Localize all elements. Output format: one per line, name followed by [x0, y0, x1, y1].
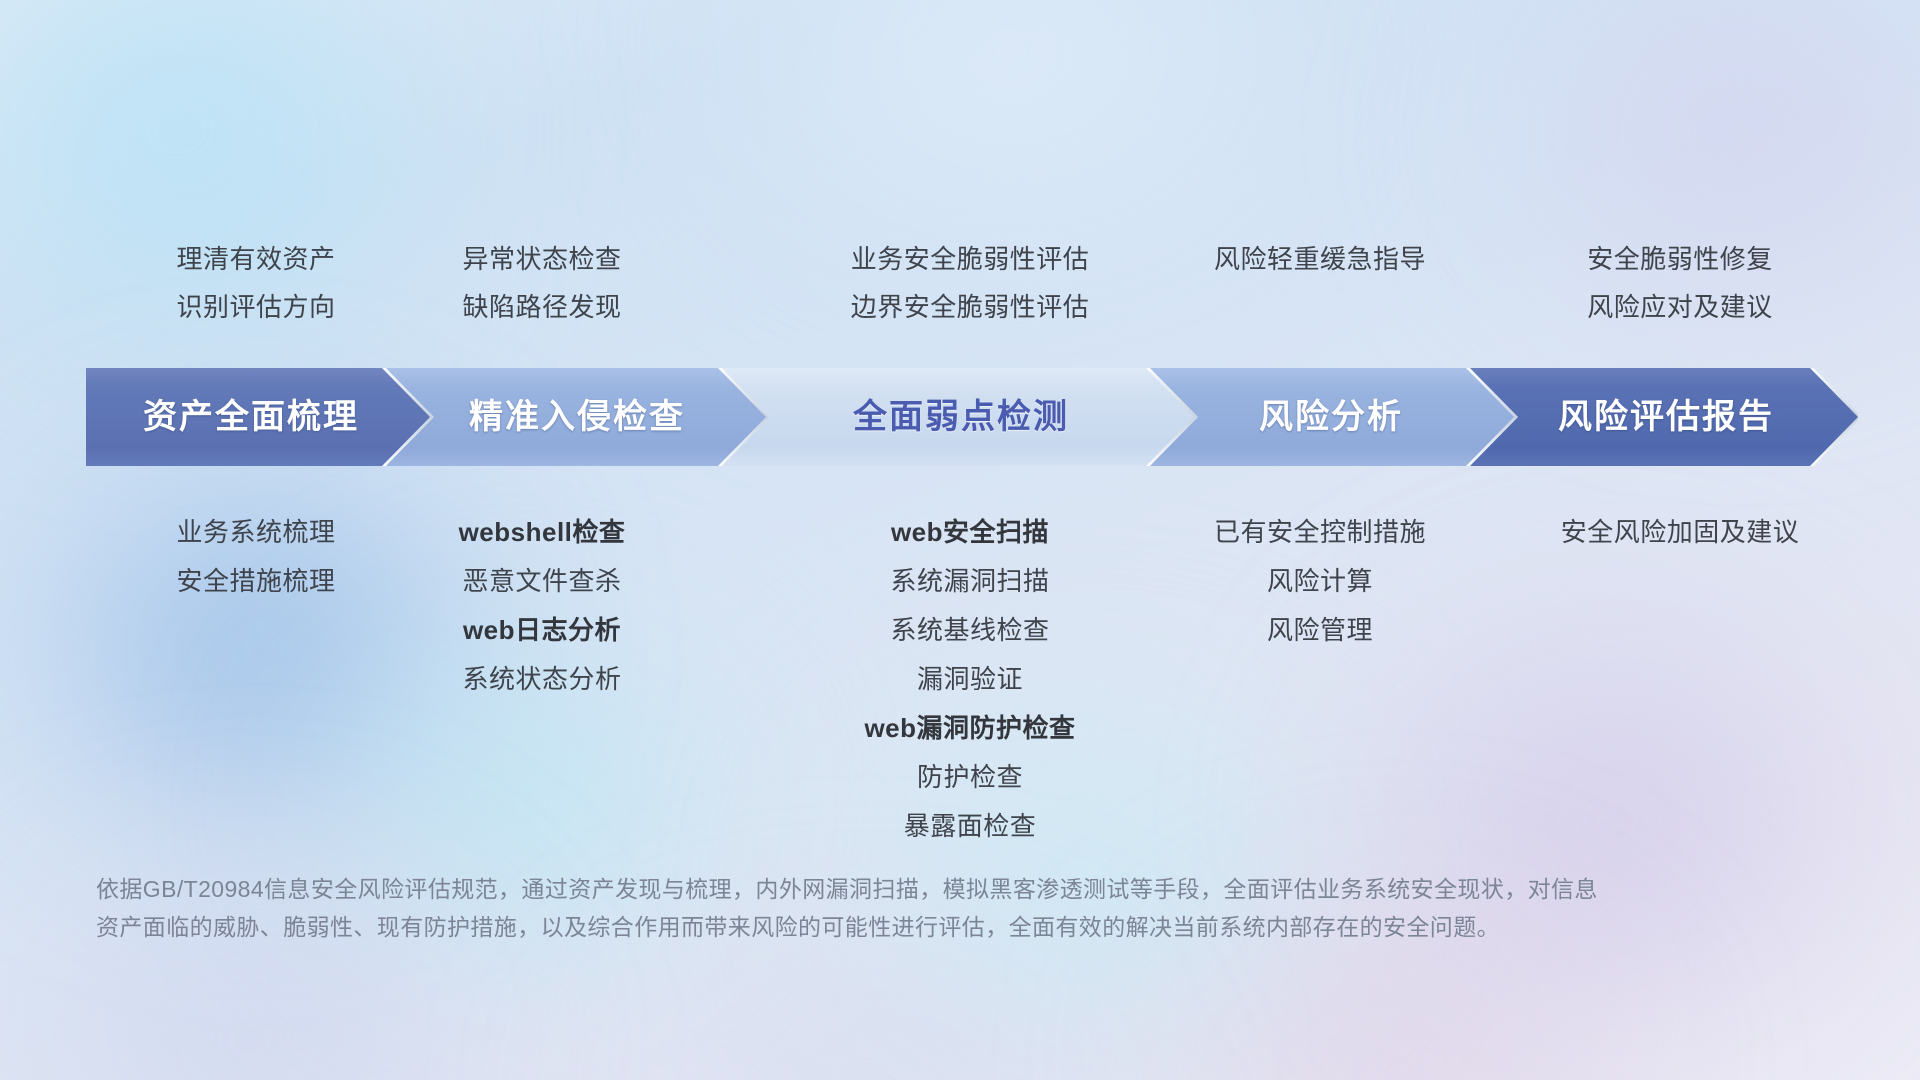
stage-top-items-intrusion-check: 异常状态检查 缺陷路径发现 — [392, 235, 692, 331]
bottom-item: web安全扫描 — [790, 508, 1150, 557]
bottom-item: 风险计算 — [1160, 557, 1480, 606]
stage-bottom-items-intrusion-check: webshell检查 恶意文件查杀 web日志分析 系统状态分析 — [392, 508, 692, 704]
bottom-item: 系统状态分析 — [392, 655, 692, 704]
bottom-item: 风险管理 — [1160, 606, 1480, 655]
bottom-item: 暴露面检查 — [790, 802, 1150, 851]
slide-canvas: 理清有效资产 识别评估方向 异常状态检查 缺陷路径发现 业务安全脆弱性评估 边界… — [0, 0, 1920, 1080]
stage-top-items-risk-report: 安全脆弱性修复 风险应对及建议 — [1510, 235, 1850, 331]
bottom-item: web漏洞防护检查 — [790, 704, 1150, 753]
chevron-label-weakness-detection[interactable]: 全面弱点检测 — [746, 368, 1176, 466]
bottom-item: 业务系统梳理 — [106, 508, 406, 557]
bottom-item: 防护检查 — [790, 753, 1150, 802]
process-chevron-band: 资产全面梳理 精准入侵检查 全面弱点检测 风险分析 风险评估报告 — [86, 368, 1858, 466]
top-item: 安全脆弱性修复 — [1510, 235, 1850, 283]
top-item: 风险轻重缓急指导 — [1160, 235, 1480, 283]
top-item: 边界安全脆弱性评估 — [790, 283, 1150, 331]
top-item: 缺陷路径发现 — [392, 283, 692, 331]
bottom-item: 安全措施梳理 — [106, 557, 406, 606]
bottom-item: 已有安全控制措施 — [1160, 508, 1480, 557]
bottom-item: 漏洞验证 — [790, 655, 1150, 704]
top-item: 风险应对及建议 — [1510, 283, 1850, 331]
top-item: 异常状态检查 — [392, 235, 692, 283]
top-item: 识别评估方向 — [106, 283, 406, 331]
bottom-item: 系统基线检查 — [790, 606, 1150, 655]
bottom-item: 系统漏洞扫描 — [790, 557, 1150, 606]
footer-description: 依据GB/T20984信息安全风险评估规范，通过资产发现与梳理，内外网漏洞扫描，… — [96, 870, 1816, 946]
stage-bottom-items-weakness-detection: web安全扫描 系统漏洞扫描 系统基线检查 漏洞验证 web漏洞防护检查 防护检… — [790, 508, 1150, 851]
chevron-label-intrusion-check[interactable]: 精准入侵检查 — [402, 368, 752, 466]
chevron-label-risk-analysis[interactable]: 风险分析 — [1166, 368, 1496, 466]
bottom-item: 恶意文件查杀 — [392, 557, 692, 606]
chevron-label-risk-report[interactable]: 风险评估报告 — [1486, 368, 1846, 466]
chevron-label-asset-inventory[interactable]: 资产全面梳理 — [86, 368, 416, 466]
stage-top-items-risk-analysis: 风险轻重缓急指导 — [1160, 235, 1480, 283]
stage-bottom-items-asset-inventory: 业务系统梳理 安全措施梳理 — [106, 508, 406, 606]
footer-line-1: 依据GB/T20984信息安全风险评估规范，通过资产发现与梳理，内外网漏洞扫描，… — [96, 870, 1816, 908]
stage-top-items-asset-inventory: 理清有效资产 识别评估方向 — [106, 235, 406, 331]
bottom-item: webshell检查 — [392, 508, 692, 557]
bottom-item: 安全风险加固及建议 — [1510, 508, 1850, 557]
footer-line-2: 资产面临的威胁、脆弱性、现有防护措施，以及综合作用而带来风险的可能性进行评估，全… — [96, 908, 1816, 946]
bottom-item: web日志分析 — [392, 606, 692, 655]
top-item: 理清有效资产 — [106, 235, 406, 283]
stage-bottom-items-risk-report: 安全风险加固及建议 — [1510, 508, 1850, 557]
top-item: 业务安全脆弱性评估 — [790, 235, 1150, 283]
stage-top-items-weakness-detection: 业务安全脆弱性评估 边界安全脆弱性评估 — [790, 235, 1150, 331]
process-diagram: 理清有效资产 识别评估方向 异常状态检查 缺陷路径发现 业务安全脆弱性评估 边界… — [0, 0, 1920, 1080]
stage-bottom-items-risk-analysis: 已有安全控制措施 风险计算 风险管理 — [1160, 508, 1480, 655]
